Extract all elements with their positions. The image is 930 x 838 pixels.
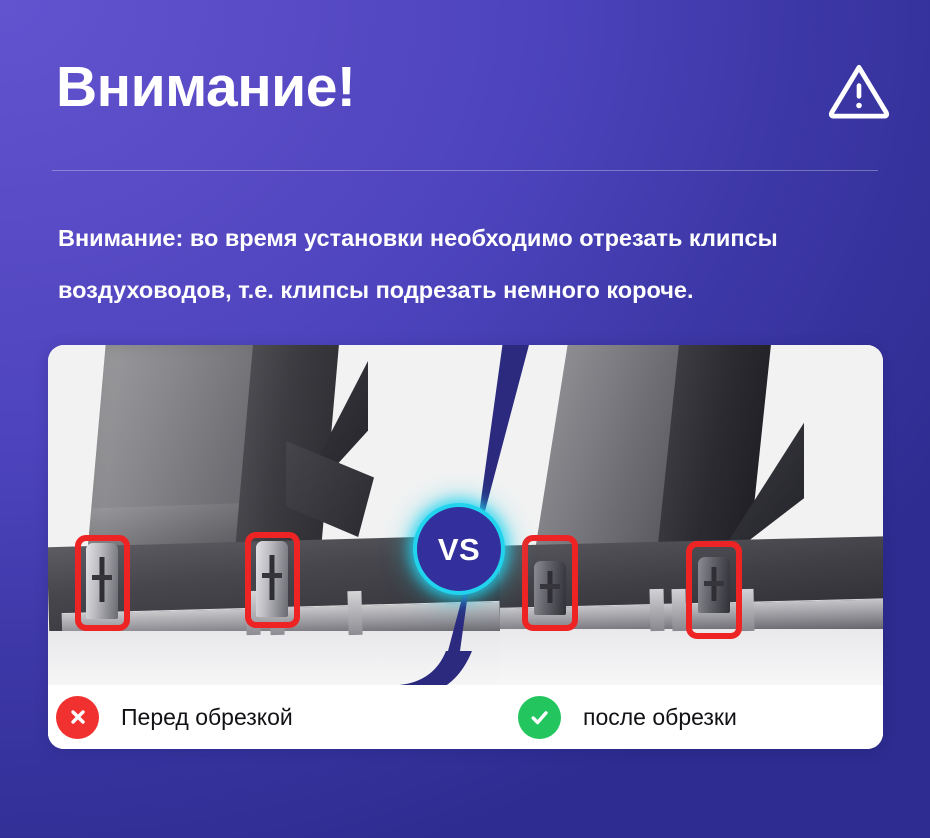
highlight-box-clip-right	[686, 541, 742, 639]
page-title: Внимание!	[56, 56, 355, 118]
highlight-box-clip-left	[522, 535, 578, 631]
caption-before: Перед обрезкой	[48, 685, 488, 749]
caption-after: после обрезки	[488, 685, 883, 749]
warning-infographic-page: Внимание! Внимание: во время установки н…	[0, 0, 930, 838]
caption-before-label: Перед обрезкой	[121, 704, 293, 731]
highlight-box-clip-right	[245, 532, 300, 628]
caption-after-label: после обрезки	[583, 704, 737, 731]
description-text: Внимание: во время установки необходимо …	[58, 212, 888, 316]
photo-floor-shadow	[48, 631, 500, 685]
base-rib	[347, 591, 362, 635]
vs-badge: VS	[413, 503, 505, 595]
highlight-box-clip-left	[75, 535, 130, 631]
caption-row: Перед обрезкой после обрезки	[48, 685, 883, 749]
header-divider	[52, 170, 878, 171]
header: Внимание!	[0, 0, 930, 172]
check-circle-icon	[518, 696, 561, 739]
base-rib	[671, 589, 686, 631]
cross-circle-icon	[56, 696, 99, 739]
base-rib	[649, 589, 664, 631]
photo-after-cutting	[500, 345, 883, 685]
vs-badge-label: VS	[438, 534, 480, 565]
warning-triangle-icon	[828, 62, 890, 120]
